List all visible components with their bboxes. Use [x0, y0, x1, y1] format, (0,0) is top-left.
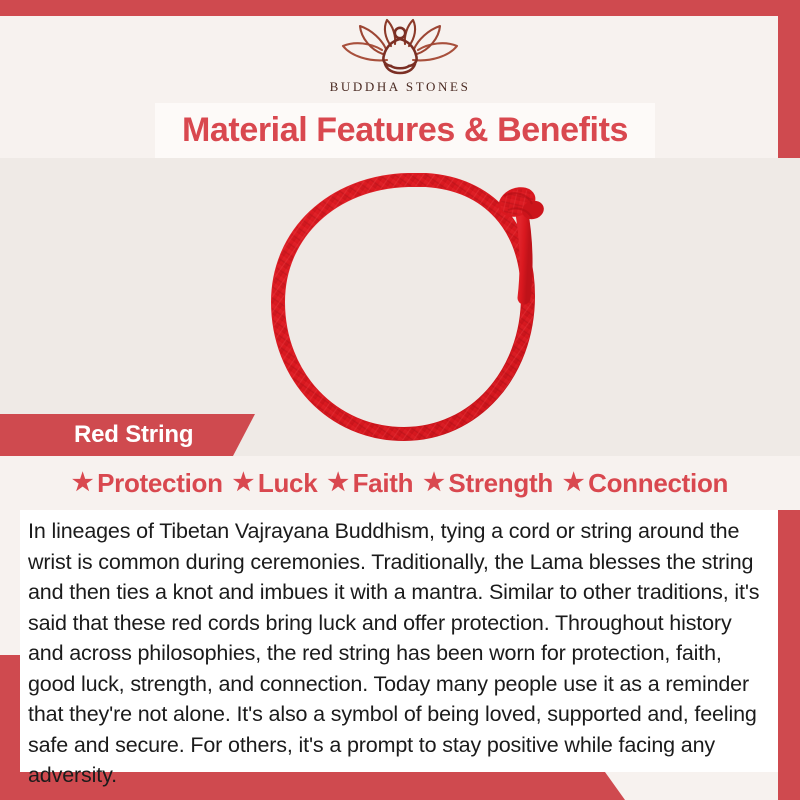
- benefit-label: Faith: [353, 468, 414, 499]
- benefit-item-strength: ★ Strength: [423, 468, 553, 499]
- brand-logo: BUDDHA STONES: [0, 16, 800, 102]
- description-text: In lineages of Tibetan Vajrayana Buddhis…: [28, 516, 762, 791]
- benefit-item-faith: ★ Faith: [327, 468, 413, 499]
- benefits-band: ★ Protection ★ Luck ★ Faith ★ Strength ★…: [0, 456, 800, 510]
- product-label-ribbon: Red String: [0, 414, 255, 456]
- star-icon: ★: [72, 471, 93, 495]
- benefit-label: Connection: [588, 468, 728, 499]
- benefit-item-protection: ★ Protection: [72, 468, 223, 499]
- page-title-banner: Material Features & Benefits: [155, 103, 655, 158]
- benefit-item-luck: ★ Luck: [233, 468, 318, 499]
- benefit-label: Strength: [448, 468, 552, 499]
- benefit-label: Protection: [97, 468, 223, 499]
- benefits-list: ★ Protection ★ Luck ★ Faith ★ Strength ★…: [72, 468, 728, 499]
- product-photo-band: [0, 158, 800, 458]
- infographic-page: BUDDHA STONES Material Features & Benefi…: [0, 0, 800, 800]
- star-icon: ★: [327, 471, 348, 495]
- benefit-label: Luck: [258, 468, 317, 499]
- red-string-bracelet-image: [236, 168, 586, 453]
- description-block: In lineages of Tibetan Vajrayana Buddhis…: [20, 510, 778, 772]
- star-icon: ★: [423, 471, 444, 495]
- page-title: Material Features & Benefits: [182, 111, 628, 150]
- benefit-item-connection: ★ Connection: [563, 468, 728, 499]
- brand-wordmark: BUDDHA STONES: [330, 79, 471, 95]
- star-icon: ★: [563, 471, 584, 495]
- lotus-meditation-icon: [325, 16, 475, 78]
- product-label: Red String: [74, 421, 193, 449]
- star-icon: ★: [233, 471, 254, 495]
- frame-top-bar: [0, 0, 800, 16]
